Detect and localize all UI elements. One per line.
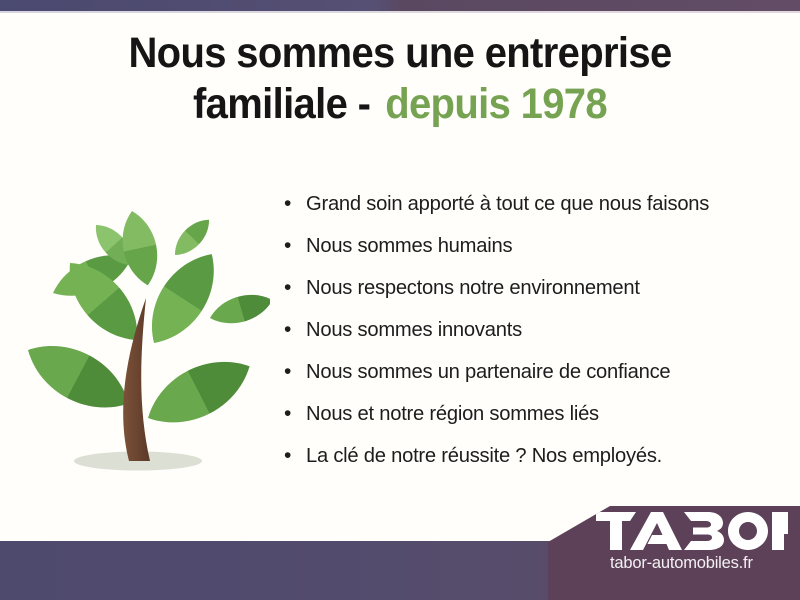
title-line-2-accent: depuis 1978 xyxy=(385,80,607,128)
list-item: • Nous sommes un partenaire de confiance xyxy=(284,360,784,402)
value-bullet-list: • Grand soin apporté à tout ce que nous … xyxy=(284,192,784,486)
logo-letter-R-bowl xyxy=(782,512,788,534)
list-item: • Nous sommes innovants xyxy=(284,318,784,360)
list-item: • Grand soin apporté à tout ce que nous … xyxy=(284,192,784,234)
list-item: • Nous sommes humains xyxy=(284,234,784,276)
list-item-label: Grand soin apporté à tout ce que nous fa… xyxy=(306,192,709,216)
list-item-label: Nous et notre région sommes liés xyxy=(306,402,599,426)
bullet-marker-icon: • xyxy=(284,234,306,258)
list-item-label: Nous sommes un partenaire de confiance xyxy=(306,360,670,384)
bullet-marker-icon: • xyxy=(284,360,306,384)
leaf-right-small xyxy=(206,288,270,330)
bullet-marker-icon: • xyxy=(284,402,306,426)
title-line-2-plain: familiale - xyxy=(193,80,370,128)
title-line-1: Nous sommes une entreprise xyxy=(28,28,772,79)
brand-url-label[interactable]: tabor-automobiles.fr xyxy=(610,554,753,573)
page-title: Nous sommes une entreprise familiale -de… xyxy=(0,28,800,129)
leaf-right-large xyxy=(137,345,260,440)
list-item-label: La clé de notre réussite ? Nos employés. xyxy=(306,444,662,468)
logo-letter-T xyxy=(596,512,636,550)
logo-letter-B xyxy=(684,512,724,550)
brand-wordmark-tabor xyxy=(596,512,788,550)
list-item-label: Nous sommes humains xyxy=(306,234,512,258)
list-item: • Nous respectons notre environnement xyxy=(284,276,784,318)
leaf-top-right-small xyxy=(168,213,216,262)
bullet-marker-icon: • xyxy=(284,318,306,342)
bullet-marker-icon: • xyxy=(284,444,306,468)
list-item: • La clé de notre réussite ? Nos employé… xyxy=(284,444,784,486)
top-accent-bar-edge xyxy=(0,11,800,13)
brand-logo-inner: tabor-automobiles.fr xyxy=(548,506,800,600)
title-line-2: familiale -depuis 1978 xyxy=(28,79,772,130)
logo-letter-O xyxy=(728,512,768,550)
list-item-label: Nous respectons notre environnement xyxy=(306,276,640,300)
slide-canvas: Nous sommes une entreprise familiale -de… xyxy=(0,0,800,600)
bullet-marker-icon: • xyxy=(284,192,306,216)
leaf-left-large xyxy=(18,329,140,425)
tree-illustration xyxy=(18,178,270,490)
brand-logo-block[interactable]: tabor-automobiles.fr xyxy=(548,506,800,600)
logo-letter-A xyxy=(630,512,682,550)
list-item-label: Nous sommes innovants xyxy=(306,318,522,342)
bullet-marker-icon: • xyxy=(284,276,306,300)
top-accent-bar xyxy=(0,0,800,11)
list-item: • Nous et notre région sommes liés xyxy=(284,402,784,444)
